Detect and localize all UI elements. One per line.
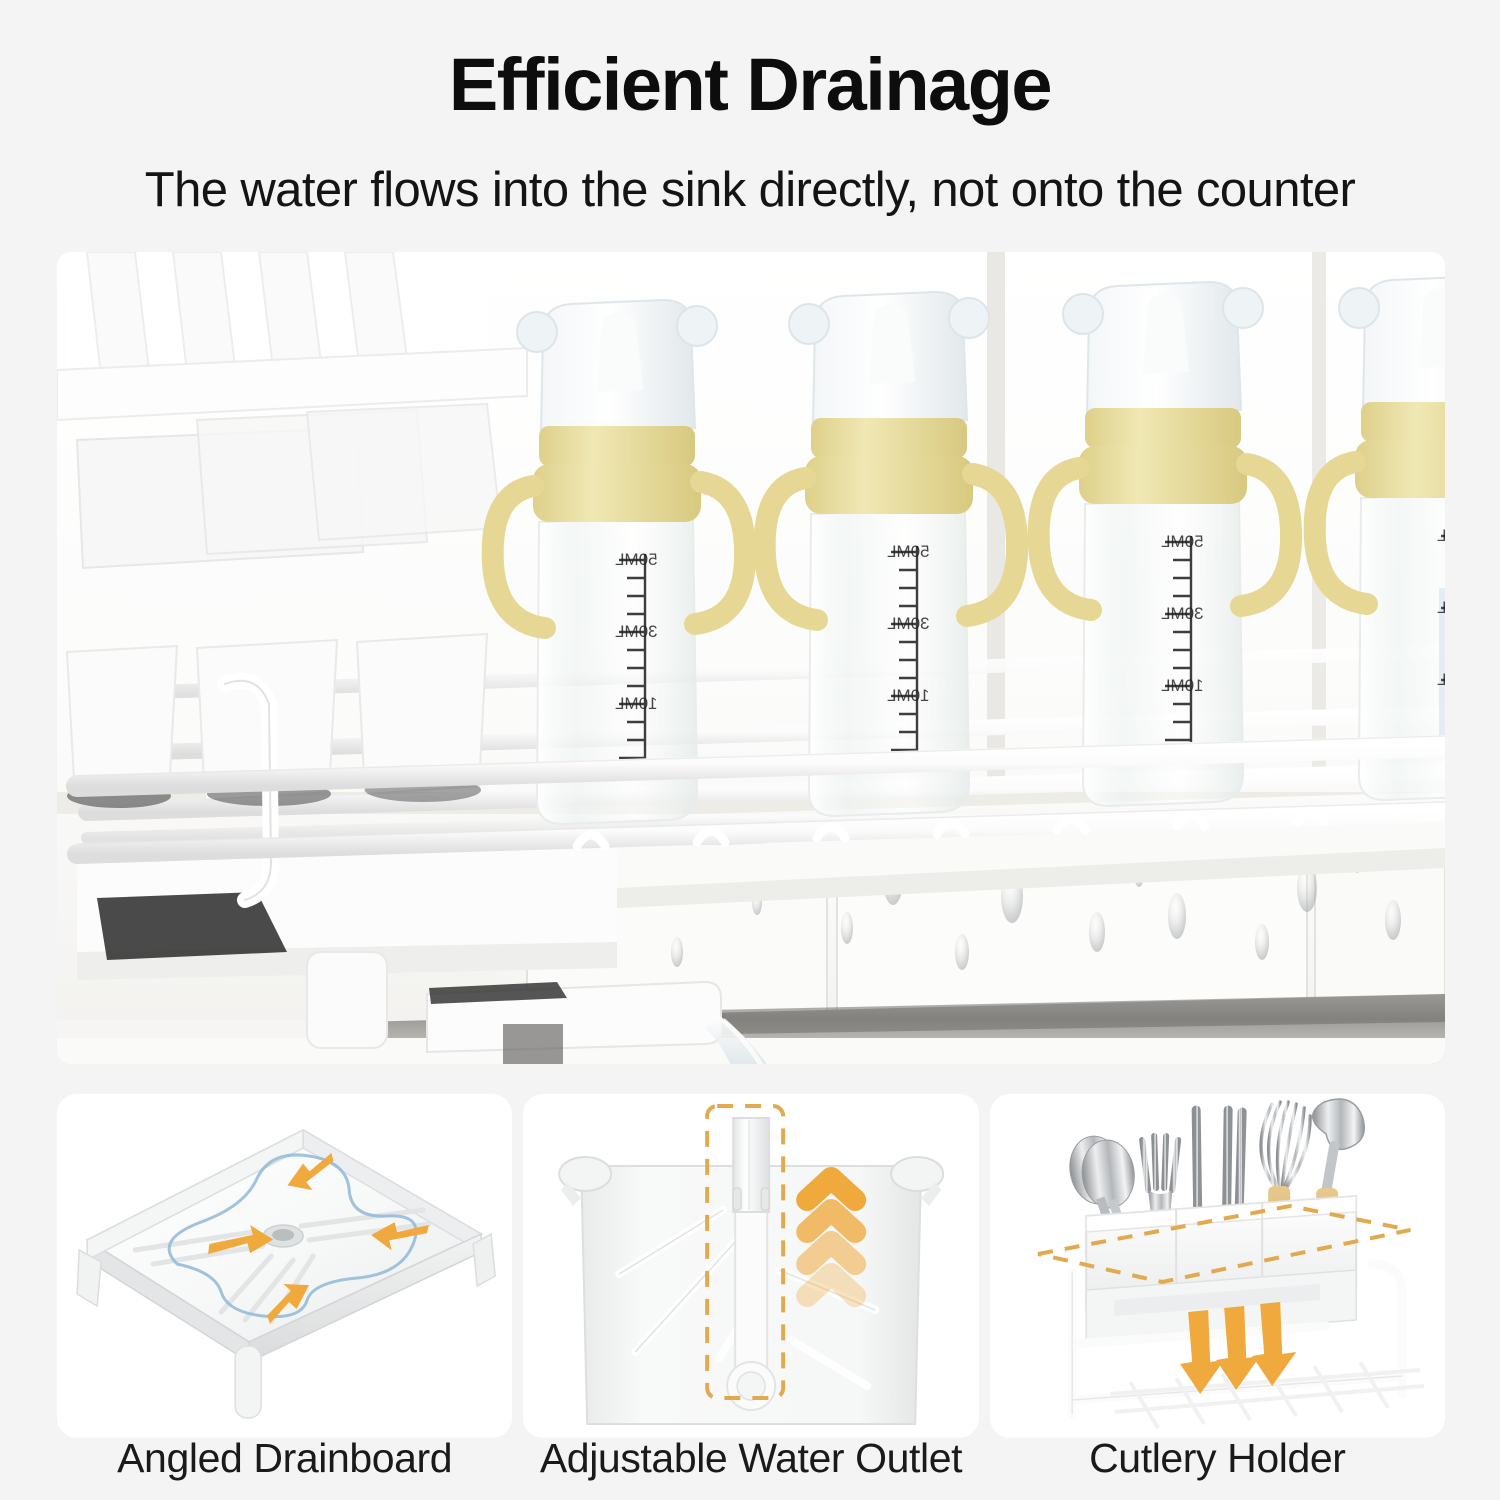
feature-card-angled-drainboard[interactable] [57, 1094, 512, 1438]
svg-text:50ML: 50ML [615, 550, 658, 569]
svg-text:50ML: 50ML [1437, 526, 1445, 545]
svg-text:50ML: 50ML [1161, 532, 1204, 551]
header: Efficient Drainage The water flows into … [0, 0, 1500, 215]
svg-text:10ML: 10ML [887, 686, 930, 705]
adjustable-water-outlet-illustration [523, 1094, 978, 1438]
tray-leg-right [473, 1234, 495, 1286]
feature-thumbnail-row [57, 1094, 1445, 1438]
svg-text:50ML: 50ML [887, 542, 930, 561]
svg-text:30ML: 30ML [887, 614, 930, 633]
svg-text:30ML: 30ML [1161, 604, 1204, 623]
caption-cutlery-holder: Cutlery Holder [990, 1438, 1445, 1500]
caption-angled-drainboard: Angled Drainboard [57, 1438, 512, 1500]
caption-adjustable-water-outlet: Adjustable Water Outlet [523, 1438, 978, 1500]
cutlery-holder-illustration [990, 1094, 1445, 1438]
svg-text:30ML: 30ML [615, 622, 658, 641]
feature-caption-row: Angled Drainboard Adjustable Water Outle… [57, 1438, 1445, 1500]
tray-leg-front [235, 1346, 261, 1418]
angled-drainboard-illustration [57, 1094, 512, 1438]
hero-product-image: ​ 50ML 30ML 10ML [57, 252, 1445, 1064]
svg-text:30ML: 30ML [1437, 598, 1445, 617]
page-title: Efficient Drainage [0, 48, 1500, 122]
svg-text:10ML: 10ML [615, 694, 658, 713]
hero-illustration: ​ 50ML 30ML 10ML [57, 252, 1445, 1064]
feature-card-adjustable-water-outlet[interactable] [523, 1094, 978, 1438]
svg-text:10ML: 10ML [1437, 670, 1445, 689]
svg-text:10ML: 10ML [1161, 676, 1204, 695]
page-subtitle: The water flows into the sink directly, … [0, 166, 1500, 215]
feature-card-cutlery-holder[interactable] [990, 1094, 1445, 1438]
